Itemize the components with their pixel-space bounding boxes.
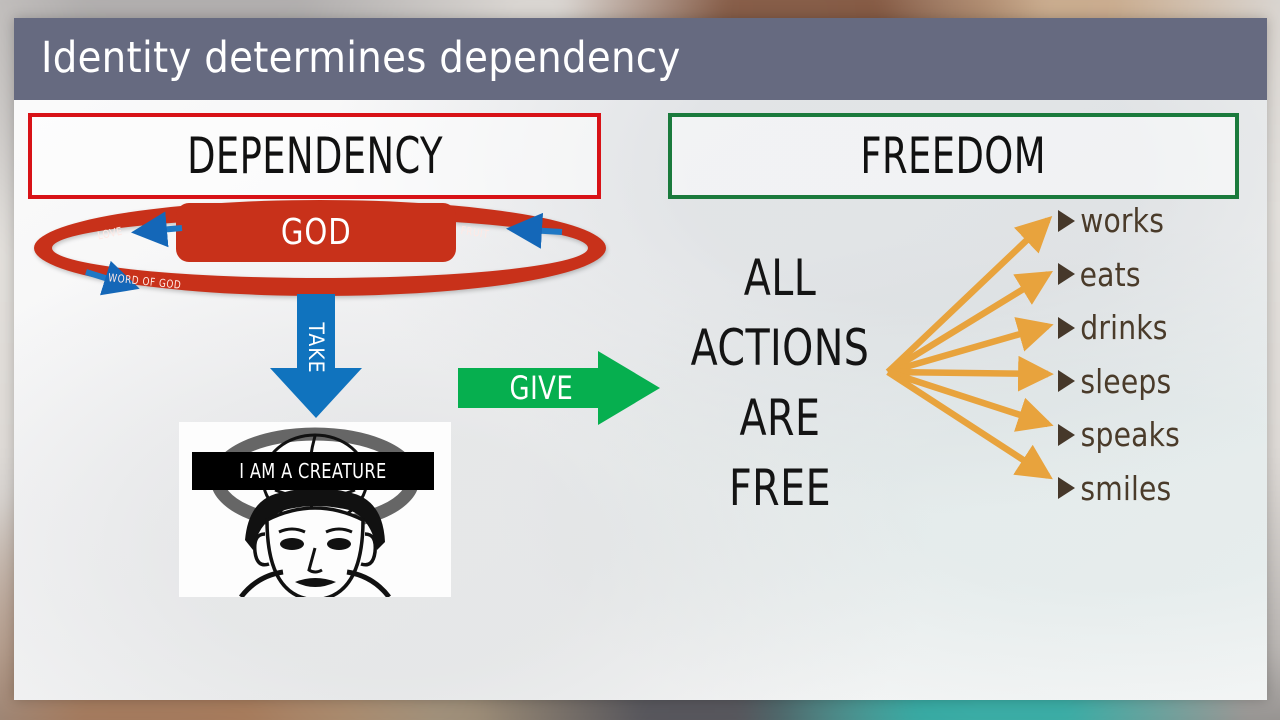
list-item-label: works bbox=[1080, 201, 1164, 240]
actions-list: works eats drinks sleeps speaks smiles bbox=[1058, 194, 1258, 515]
god-ring-group: GOD LOVE FRUIT WORD OF GOD bbox=[34, 200, 606, 296]
take-arrow-label: TAKE bbox=[304, 322, 328, 373]
fan-arrows-icon bbox=[880, 190, 1070, 510]
triangle-bullet-icon bbox=[1058, 424, 1075, 446]
dependency-header-box: DEPENDENCY bbox=[28, 113, 601, 199]
triangle-bullet-icon bbox=[1058, 263, 1075, 285]
fan-arrows bbox=[880, 190, 1070, 510]
triangle-bullet-icon bbox=[1058, 370, 1075, 392]
freedom-header-box: FREEDOM bbox=[668, 113, 1239, 199]
list-item-label: eats bbox=[1080, 255, 1141, 294]
page-title: Identity determines dependency bbox=[41, 33, 681, 83]
fruit-arrow-icon bbox=[512, 229, 562, 232]
list-item: sleeps bbox=[1058, 355, 1258, 409]
list-item: eats bbox=[1058, 248, 1258, 302]
statement-line-4: FREE bbox=[685, 453, 875, 523]
creature-face-art bbox=[179, 422, 451, 597]
list-item-label: smiles bbox=[1080, 469, 1171, 508]
triangle-bullet-icon bbox=[1058, 210, 1075, 232]
statement-line-3: ARE bbox=[685, 383, 875, 453]
love-arrow-icon bbox=[137, 228, 182, 232]
list-item: speaks bbox=[1058, 408, 1258, 462]
list-item: works bbox=[1058, 194, 1258, 248]
slide-canvas: Identity determines dependency DEPENDENC… bbox=[0, 0, 1280, 720]
take-arrow: TAKE bbox=[270, 294, 362, 418]
list-item: smiles bbox=[1058, 462, 1258, 516]
list-item: drinks bbox=[1058, 301, 1258, 355]
center-statement: ALL ACTIONS ARE FREE bbox=[672, 243, 888, 523]
triangle-bullet-icon bbox=[1058, 477, 1075, 499]
give-arrow: GIVE bbox=[458, 351, 660, 425]
list-item-label: speaks bbox=[1081, 415, 1180, 454]
dependency-header-label: DEPENDENCY bbox=[187, 127, 443, 185]
freedom-header-label: FREEDOM bbox=[861, 127, 1047, 185]
creature-banner: I AM A CREATURE bbox=[192, 452, 434, 490]
give-arrow-label: GIVE bbox=[510, 369, 574, 407]
slide-title-bar: Identity determines dependency bbox=[14, 18, 1267, 100]
triangle-bullet-icon bbox=[1058, 317, 1075, 339]
creature-image: I AM A CREATURE bbox=[179, 422, 451, 597]
statement-line-2: ACTIONS bbox=[685, 313, 875, 383]
list-item-label: sleeps bbox=[1080, 362, 1171, 401]
statement-line-1: ALL bbox=[685, 243, 875, 313]
creature-banner-label: I AM A CREATURE bbox=[239, 459, 386, 483]
list-item-label: drinks bbox=[1080, 308, 1167, 347]
